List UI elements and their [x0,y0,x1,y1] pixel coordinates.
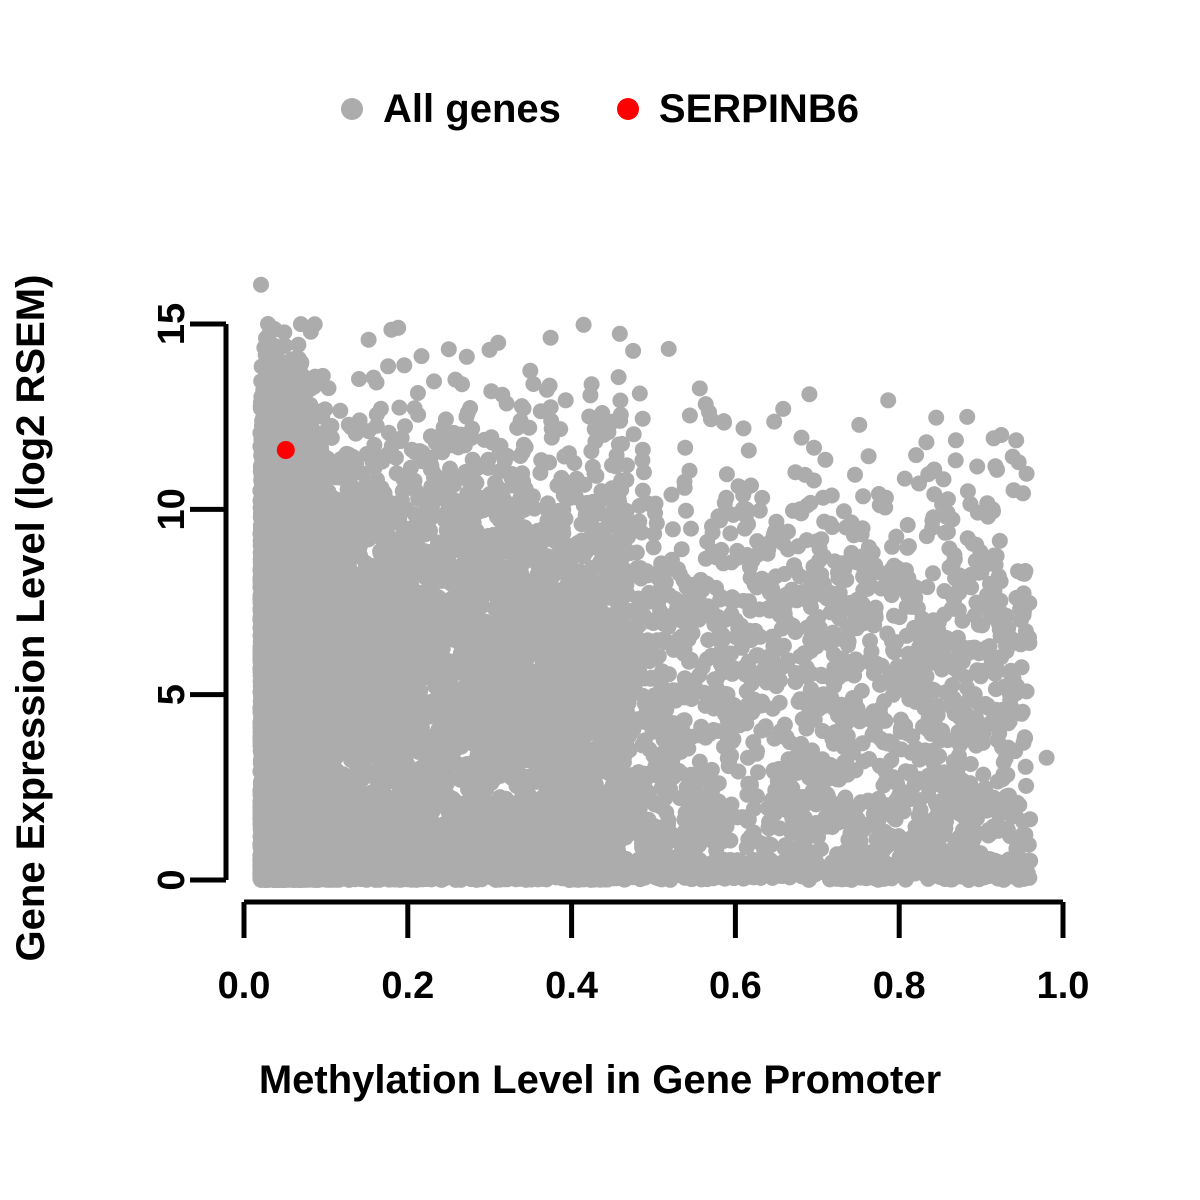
x-tick-label: 0.0 [218,965,271,1007]
y-tick-label: 10 [151,488,193,530]
y-tick-labels: 051015 [151,303,193,891]
scatter-canvas: 051015 0.00.20.40.60.81.0 [0,0,1200,1200]
x-tick-label: 1.0 [1037,965,1090,1007]
x-tick-label: 0.4 [545,965,598,1007]
y-tick-label: 15 [151,303,193,345]
x-axis [244,902,1063,938]
x-tick-label: 0.8 [873,965,926,1007]
plot-area: 051015 0.00.20.40.60.81.0 [0,0,1200,1200]
series-serpinb6-points [277,441,295,459]
y-axis [190,324,226,880]
x-tick-label: 0.2 [381,965,434,1007]
series-all-genes-points [252,277,1054,888]
y-tick-label: 5 [151,684,193,705]
x-tick-label: 0.6 [709,965,762,1007]
x-tick-labels: 0.00.20.40.60.81.0 [218,965,1090,1007]
y-tick-label: 0 [151,869,193,890]
scatter-plot-figure: All genes SERPINB6 Gene Expression Level… [0,0,1200,1200]
